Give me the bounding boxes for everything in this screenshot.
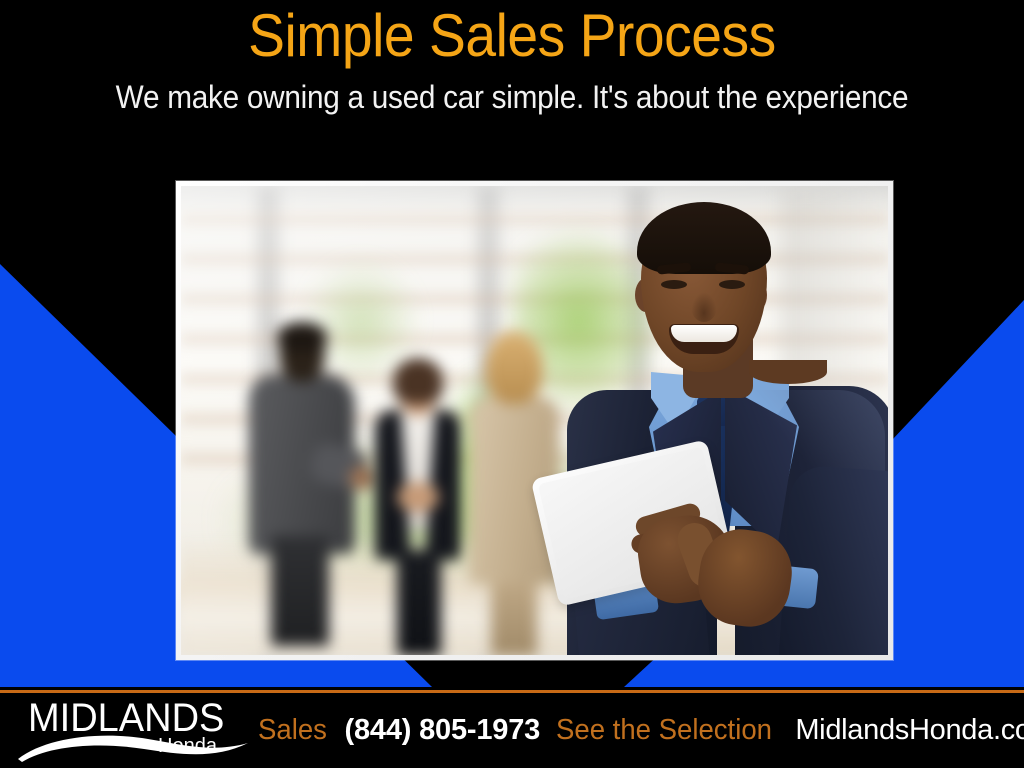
footer: MIDLANDS Honda Sales (844) 805-1973 See …: [0, 693, 1024, 768]
background-person-woman-black-jacket: [373, 364, 463, 654]
hero-photo: [181, 186, 888, 655]
honda-ad-banner: Simple Sales Process We make owning a us…: [0, 0, 1024, 768]
smile: [669, 324, 739, 354]
header: Simple Sales Process We make owning a us…: [0, 0, 1024, 150]
page-title: Simple Sales Process: [41, 4, 983, 68]
logo-swoosh-icon: [16, 725, 252, 763]
sales-phone-block[interactable]: Sales (844) 805-1973: [258, 707, 540, 753]
midlands-honda-logo[interactable]: MIDLANDS Honda: [16, 697, 246, 763]
hero-photo-frame: [176, 181, 893, 660]
page-subtitle: We make owning a used car simple. It's a…: [36, 79, 988, 115]
website-url[interactable]: MidlandsHonda.com: [795, 713, 1024, 747]
sales-phone-number[interactable]: (844) 805-1973: [345, 713, 541, 747]
sales-label: Sales: [258, 713, 327, 747]
see-the-selection-label: See the Selection: [556, 713, 772, 747]
foreground-businessman: [557, 200, 888, 655]
website-block[interactable]: See the Selection MidlandsHonda.com: [556, 707, 1024, 753]
background-person-man: [241, 326, 361, 636]
